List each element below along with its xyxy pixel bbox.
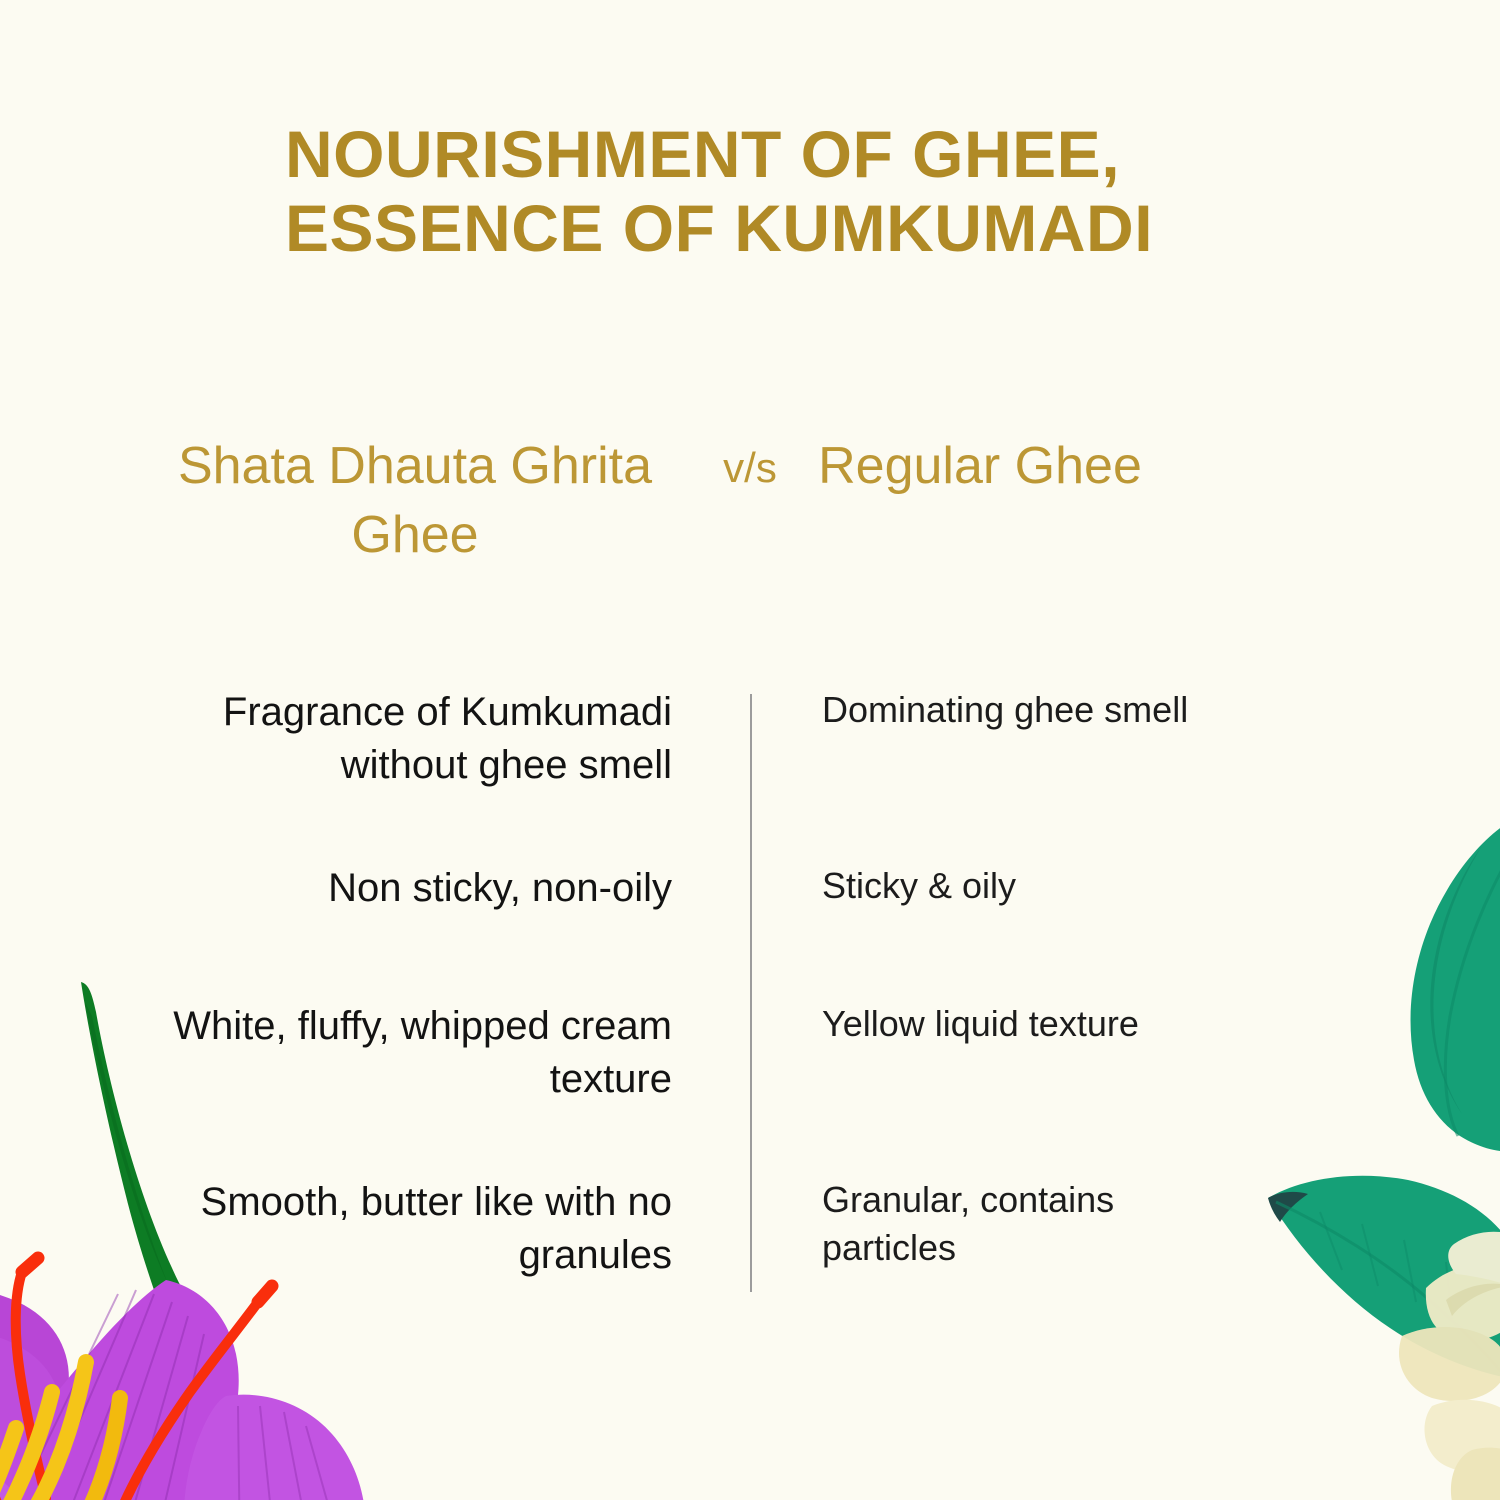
saffron-petal-right-veins [238,1406,342,1500]
saffron-stigma-right [122,1302,258,1500]
saffron-petal-center-veins [16,1290,204,1500]
comparison-cell-right: Granular, contains particles [822,1176,1222,1272]
saffron-petal-left [0,1331,61,1500]
comparison-cell-right: Dominating ghee smell [822,686,1222,734]
column-divider [750,694,752,1292]
saffron-petal-center [0,1280,239,1500]
saffron-stamen-3 [68,1398,120,1500]
comparison-cell-left: Fragrance of Kumkumadi without ghee smel… [120,686,672,792]
comparison-cell-left: Smooth, butter like with no granules [120,1176,672,1282]
comparison-cell-right: Yellow liquid texture [822,1000,1222,1048]
comparison-headers: Shata Dhauta Ghrita Ghee v/s Regular Ghe… [150,432,1210,592]
page-title: NOURISHMENT OF GHEE, ESSENCE OF KUMKUMAD… [285,118,1285,266]
versus-separator: v/s [695,440,805,495]
page-title-line-1: NOURISHMENT OF GHEE, [285,118,1285,192]
comparison-cell-right: Sticky & oily [822,862,1222,910]
saffron-stamen-1 [28,1362,86,1500]
comparison-cell-left: White, fluffy, whipped cream texture [120,1000,672,1106]
blossom-petal-4 [1424,1400,1500,1473]
blossom-petal-3 [1399,1327,1500,1401]
saffron-stamen-2 [0,1392,52,1500]
column-header-right: Regular Ghee [805,432,1155,501]
saffron-petal-lower-left [0,1443,38,1500]
comparison-table: Fragrance of Kumkumadi without ghee smel… [0,672,1500,1312]
saffron-stamen-4 [0,1428,16,1500]
page-title-line-2: ESSENCE OF KUMKUMADI [285,192,1285,266]
infographic-page: NOURISHMENT OF GHEE, ESSENCE OF KUMKUMAD… [0,0,1500,1500]
saffron-petal-left-back [0,1286,69,1500]
blossom-petal-5 [1451,1448,1500,1500]
column-header-left: Shata Dhauta Ghrita Ghee [150,432,680,569]
saffron-petal-right [184,1395,366,1500]
comparison-cell-left: Non sticky, non-oily [120,862,672,915]
